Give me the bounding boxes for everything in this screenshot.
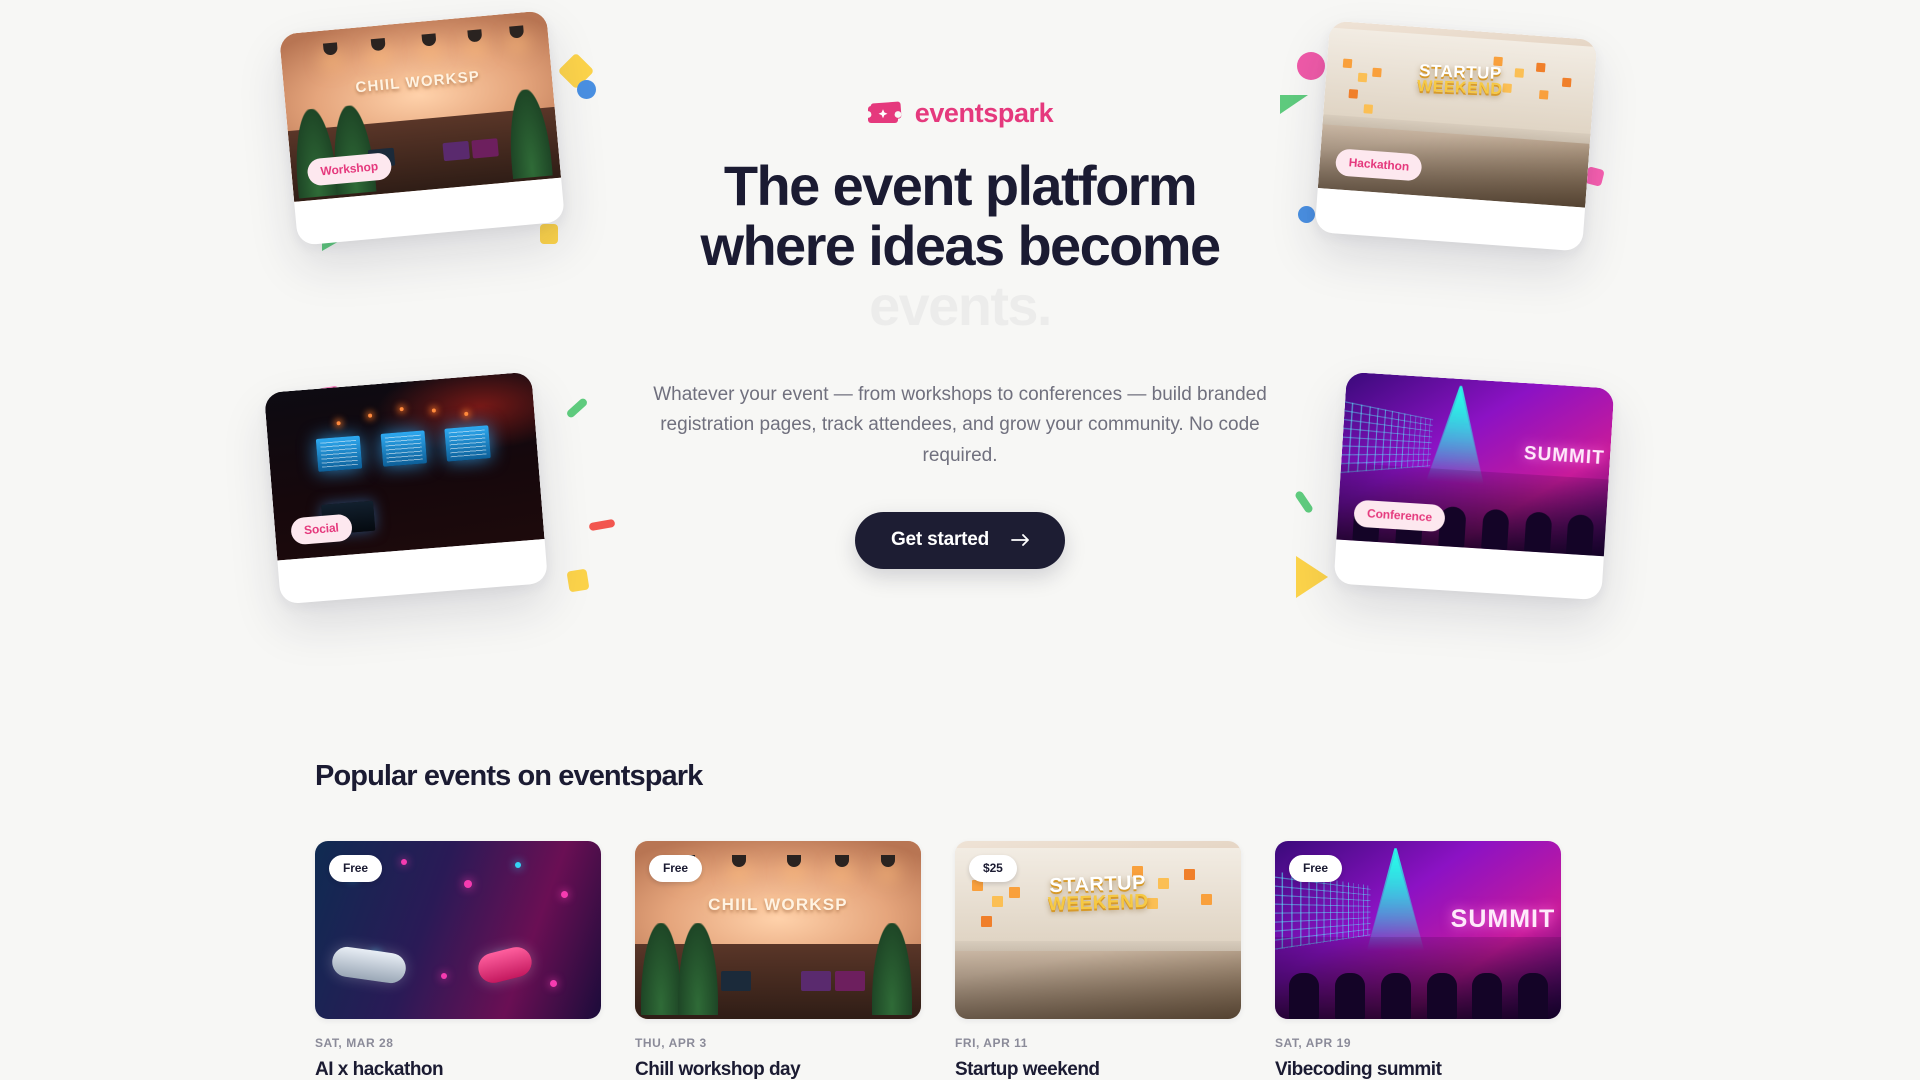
floating-card-sign-text: SUMMIT [1523,444,1605,471]
event-title: Vibecoding summit [1275,1059,1561,1080]
event-date: THU, APR 3 [635,1036,921,1050]
hero-section: CHIIL WORKSP Workshop [0,0,1920,660]
event-date: SAT, MAR 28 [315,1036,601,1050]
yellow-square-icon [540,224,558,244]
floating-card-photo: Social [264,372,545,561]
event-date: SAT, APR 19 [1275,1036,1561,1050]
hero-content: eventspark The event platform where idea… [640,96,1280,569]
floating-card-photo: CHIIL WORKSP Workshop [279,10,561,202]
page-title: The event platform where ideas become ev… [640,156,1280,336]
event-card[interactable]: CHIIL WORKSP Free THU, APR 3 Chill wor [635,841,921,1080]
headline-line-2: where ideas become [640,216,1280,276]
floating-card-photo: SUMMIT Conference [1336,372,1614,556]
green-triangle-icon [1280,95,1308,114]
event-thumbnail[interactable]: SUMMIT Free [1275,841,1561,1019]
blue-circle-icon [1298,206,1315,223]
pink-circle-icon [1297,52,1325,80]
event-date: FRI, APR 11 [955,1036,1241,1050]
event-card[interactable]: SUMMIT Free SAT, APR 19 Vibecoding summ [1275,841,1561,1080]
floating-event-card[interactable]: SUMMIT Conference [1334,372,1615,600]
brand-name: eventspark [915,98,1054,129]
headline-line-3: events. [640,276,1280,336]
green-dash-icon [565,397,588,419]
yellow-square-icon [566,569,589,593]
event-card[interactable]: Free SAT, MAR 28 AI x hackathon [315,841,601,1080]
green-dash-icon [1294,490,1314,514]
floating-card-badge: Social [290,514,353,546]
ticket-sparkle-icon [867,101,903,126]
event-price-badge: Free [329,855,382,882]
popular-events-grid: Free SAT, MAR 28 AI x hackathon [315,841,1605,1080]
event-price-badge: $25 [969,855,1017,882]
event-title: AI x hackathon [315,1059,601,1080]
floating-event-card[interactable]: Social [264,372,548,605]
event-title: Chill workshop day [635,1059,921,1080]
event-card[interactable]: STARTUPWEEKEND $25 FRI, APR 11 Startup [955,841,1241,1080]
arrow-right-icon [1011,533,1031,547]
floating-card-photo: STARTUP WEEKEND Hackathon [1318,20,1598,207]
floating-event-card[interactable]: STARTUP WEEKEND Hackathon [1315,20,1598,251]
floating-card-badge: Conference [1353,500,1446,533]
event-thumbnail[interactable]: CHIIL WORKSP Free [635,841,921,1019]
event-price-badge: Free [649,855,702,882]
popular-events-title: Popular events on eventspark [315,760,1605,793]
event-thumbnail[interactable]: STARTUPWEEKEND $25 [955,841,1241,1019]
yellow-triangle-icon [1296,556,1328,598]
event-price-badge: Free [1289,855,1342,882]
floating-event-card[interactable]: CHIIL WORKSP Workshop [279,10,565,245]
hero-subtitle: Whatever your event — from workshops to … [640,380,1280,472]
get-started-label: Get started [891,529,989,551]
get-started-button[interactable]: Get started [855,512,1065,569]
headline-line-1: The event platform [640,156,1280,216]
red-dash-icon [589,519,616,531]
blue-circle-icon [577,80,596,99]
event-title: Startup weekend [955,1059,1241,1080]
page-root: CHIIL WORKSP Workshop [0,0,1920,1080]
popular-events-section: Popular events on eventspark [0,760,1920,1080]
floating-card-sign-text: STARTUP WEEKEND [1417,63,1503,98]
event-thumbnail[interactable]: Free [315,841,601,1019]
brand-logo[interactable]: eventspark [640,96,1280,130]
